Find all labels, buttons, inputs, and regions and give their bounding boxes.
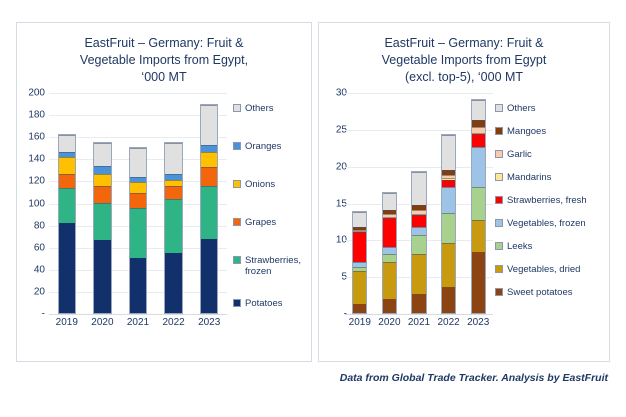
bar-segment bbox=[412, 235, 425, 253]
legend-label: Oranges bbox=[245, 141, 281, 152]
bar-segment bbox=[472, 147, 485, 186]
y-axis-tick-label: - bbox=[42, 309, 45, 320]
bar-segment bbox=[472, 220, 485, 251]
legend-item[interactable]: Mangoes bbox=[495, 126, 546, 137]
bar-2019[interactable] bbox=[352, 211, 367, 314]
legend-swatch-icon bbox=[495, 150, 503, 158]
bar-segment bbox=[201, 145, 218, 153]
chart-title-left: EastFruit – Germany: Fruit & Vegetable I… bbox=[17, 23, 311, 86]
bar-segment bbox=[165, 253, 182, 313]
legend-swatch-icon bbox=[495, 173, 503, 181]
legend-label: Potatoes bbox=[245, 298, 283, 309]
x-axis-tick-label: 2023 bbox=[198, 317, 220, 328]
legend-item[interactable]: Potatoes bbox=[233, 298, 283, 309]
bar-segment bbox=[94, 203, 111, 240]
bar-segment bbox=[383, 262, 396, 300]
y-axis-tick-label: 40 bbox=[34, 264, 45, 275]
bar-segment bbox=[383, 254, 396, 261]
y-axis-left: -20406080100120140160180200 bbox=[17, 93, 47, 314]
bar-segment bbox=[130, 148, 147, 176]
legend-label: Sweet potatoes bbox=[507, 287, 573, 298]
bar-2020[interactable] bbox=[382, 192, 397, 314]
bar-segment bbox=[472, 134, 485, 147]
legend-item[interactable]: Mandarins bbox=[495, 172, 551, 183]
x-axis-tick-label: 2019 bbox=[349, 317, 371, 328]
legend-item[interactable]: Oranges bbox=[233, 141, 281, 152]
bar-segment bbox=[472, 252, 485, 313]
bar-segment bbox=[130, 182, 147, 193]
bar-segment bbox=[94, 143, 111, 166]
bars-left bbox=[49, 93, 227, 315]
bar-2023[interactable] bbox=[471, 99, 486, 314]
bar-2020[interactable] bbox=[93, 142, 112, 314]
bar-segment bbox=[59, 135, 76, 152]
legend-right: OthersMangoesGarlicMandarinsStrawberries… bbox=[495, 93, 611, 314]
bar-segment bbox=[59, 188, 76, 223]
bar-segment bbox=[442, 135, 455, 170]
bar-segment bbox=[442, 213, 455, 243]
x-axis-tick-label: 2021 bbox=[408, 317, 430, 328]
legend-label: Onions bbox=[245, 179, 275, 190]
bar-2022[interactable] bbox=[164, 142, 183, 314]
bar-2019[interactable] bbox=[58, 134, 77, 314]
bar-segment bbox=[201, 152, 218, 167]
chart-title-line: Vegetable Imports from Egypt bbox=[341, 52, 587, 69]
bar-segment bbox=[94, 240, 111, 313]
bar-segment bbox=[353, 212, 366, 227]
legend-swatch-icon bbox=[495, 196, 503, 204]
legend-label: Others bbox=[245, 103, 274, 114]
bar-segment bbox=[442, 187, 455, 213]
legend-swatch-icon bbox=[495, 127, 503, 135]
gridline bbox=[345, 93, 493, 94]
x-axis-tick-label: 2021 bbox=[127, 317, 149, 328]
legend-item[interactable]: Grapes bbox=[233, 217, 276, 228]
chart-title-line: EastFruit – Germany: Fruit & bbox=[341, 35, 587, 52]
legend-swatch-icon bbox=[495, 104, 503, 112]
legend-label: Grapes bbox=[245, 217, 276, 228]
legend-item[interactable]: Leeks bbox=[495, 241, 532, 252]
bar-segment bbox=[412, 215, 425, 227]
bar-segment bbox=[59, 223, 76, 313]
chart-title-right: EastFruit – Germany: Fruit & Vegetable I… bbox=[319, 23, 609, 86]
legend-label: Vegetables, frozen bbox=[507, 218, 586, 229]
legend-label: Garlic bbox=[507, 149, 532, 160]
bars-right bbox=[345, 93, 493, 315]
bar-segment bbox=[353, 304, 366, 313]
x-axis-tick-label: 2020 bbox=[378, 317, 400, 328]
bar-segment bbox=[412, 254, 425, 295]
bar-segment bbox=[383, 247, 396, 255]
y-axis-tick-label: 160 bbox=[28, 132, 45, 143]
legend-label: Mandarins bbox=[507, 172, 551, 183]
y-axis-tick-label: 200 bbox=[28, 88, 45, 99]
gridline bbox=[49, 93, 227, 94]
bar-segment bbox=[94, 174, 111, 186]
bar-segment bbox=[59, 157, 76, 174]
y-axis-tick-label: 20 bbox=[34, 286, 45, 297]
bar-segment bbox=[472, 120, 485, 127]
source-note: Data from Global Trade Tracker. Analysis… bbox=[0, 372, 608, 384]
bar-segment bbox=[383, 193, 396, 210]
legend-left: OthersOrangesOnionsGrapesStrawberries, f… bbox=[233, 93, 317, 314]
bar-2021[interactable] bbox=[411, 171, 426, 314]
bar-segment bbox=[59, 174, 76, 188]
chart-panel-left: EastFruit – Germany: Fruit & Vegetable I… bbox=[16, 22, 312, 362]
y-axis-tick-label: 80 bbox=[34, 220, 45, 231]
bar-segment bbox=[201, 186, 218, 239]
x-axis-left: 20192020202120222023 bbox=[49, 314, 227, 332]
bar-segment bbox=[165, 186, 182, 199]
legend-swatch-icon bbox=[495, 288, 503, 296]
plot-area-left: -20406080100120140160180200 201920202021… bbox=[17, 93, 311, 361]
chart-title-line: ‘000 MT bbox=[39, 69, 289, 86]
chart-panel-right: EastFruit – Germany: Fruit & Vegetable I… bbox=[318, 22, 610, 362]
legend-swatch-icon bbox=[495, 265, 503, 273]
chart-page: EastFruit – Germany: Fruit & Vegetable I… bbox=[0, 0, 626, 417]
bar-segment bbox=[201, 167, 218, 186]
bar-segment bbox=[130, 258, 147, 313]
legend-label: Vegetables, dried bbox=[507, 264, 580, 275]
y-axis-tick-label: 180 bbox=[28, 110, 45, 121]
bar-segment bbox=[165, 143, 182, 175]
chart-title-line: Vegetable Imports from Egypt, bbox=[39, 52, 289, 69]
legend-item[interactable]: Vegetables, frozen bbox=[495, 218, 586, 229]
bar-segment bbox=[130, 193, 147, 208]
legend-swatch-icon bbox=[233, 256, 241, 264]
bar-segment bbox=[353, 232, 366, 262]
legend-swatch-icon bbox=[233, 299, 241, 307]
bar-segment bbox=[412, 227, 425, 236]
bar-segment bbox=[442, 287, 455, 313]
bar-segment bbox=[442, 243, 455, 287]
legend-item[interactable]: Others bbox=[495, 103, 536, 114]
legend-label: Strawberries, fresh bbox=[507, 195, 587, 206]
bar-segment bbox=[201, 239, 218, 313]
y-axis-tick-label: 120 bbox=[28, 176, 45, 187]
bar-segment bbox=[442, 180, 455, 187]
bar-segment bbox=[94, 166, 111, 175]
bar-2021[interactable] bbox=[129, 147, 148, 314]
bar-2023[interactable] bbox=[200, 104, 219, 314]
legend-item[interactable]: Others bbox=[233, 103, 274, 114]
x-axis-tick-label: 2022 bbox=[437, 317, 459, 328]
chart-title-line: EastFruit – Germany: Fruit & bbox=[39, 35, 289, 52]
legend-swatch-icon bbox=[495, 242, 503, 250]
x-axis-tick-label: 2022 bbox=[162, 317, 184, 328]
plot-area-right: -51015202530 20192020202120222023 Others… bbox=[319, 93, 609, 361]
legend-item[interactable]: Strawberries, fresh bbox=[495, 195, 587, 206]
bar-2022[interactable] bbox=[441, 134, 456, 314]
bar-segment bbox=[472, 187, 485, 221]
y-axis-tick-label: 140 bbox=[28, 154, 45, 165]
legend-swatch-icon bbox=[233, 218, 241, 226]
legend-swatch-icon bbox=[233, 104, 241, 112]
legend-item[interactable]: Strawberries, frozen bbox=[233, 255, 301, 277]
x-axis-tick-label: 2020 bbox=[91, 317, 113, 328]
legend-swatch-icon bbox=[233, 180, 241, 188]
legend-label: Strawberries, frozen bbox=[245, 255, 301, 277]
bar-segment bbox=[94, 186, 111, 202]
legend-swatch-icon bbox=[233, 142, 241, 150]
bar-segment bbox=[353, 271, 366, 303]
x-axis-tick-label: 2019 bbox=[56, 317, 78, 328]
legend-item[interactable]: Onions bbox=[233, 179, 275, 190]
x-axis-right: 20192020202120222023 bbox=[345, 314, 493, 332]
bar-segment bbox=[165, 199, 182, 253]
bar-segment bbox=[412, 172, 425, 205]
legend-item[interactable]: Garlic bbox=[495, 149, 532, 160]
legend-label: Others bbox=[507, 103, 536, 114]
x-axis-tick-label: 2023 bbox=[467, 317, 489, 328]
legend-item[interactable]: Sweet potatoes bbox=[495, 287, 573, 298]
bar-segment bbox=[383, 218, 396, 246]
legend-item[interactable]: Vegetables, dried bbox=[495, 264, 580, 275]
bar-segment bbox=[383, 299, 396, 313]
chart-title-line: (excl. top-5), ‘000 MT bbox=[341, 69, 587, 86]
y-axis-tick-label: 60 bbox=[34, 242, 45, 253]
bar-segment bbox=[472, 100, 485, 120]
y-axis-tick-label: 100 bbox=[28, 198, 45, 209]
legend-label: Mangoes bbox=[507, 126, 546, 137]
legend-swatch-icon bbox=[495, 219, 503, 227]
bar-segment bbox=[130, 208, 147, 258]
bar-segment bbox=[412, 294, 425, 313]
bar-segment bbox=[201, 105, 218, 144]
legend-label: Leeks bbox=[507, 241, 532, 252]
